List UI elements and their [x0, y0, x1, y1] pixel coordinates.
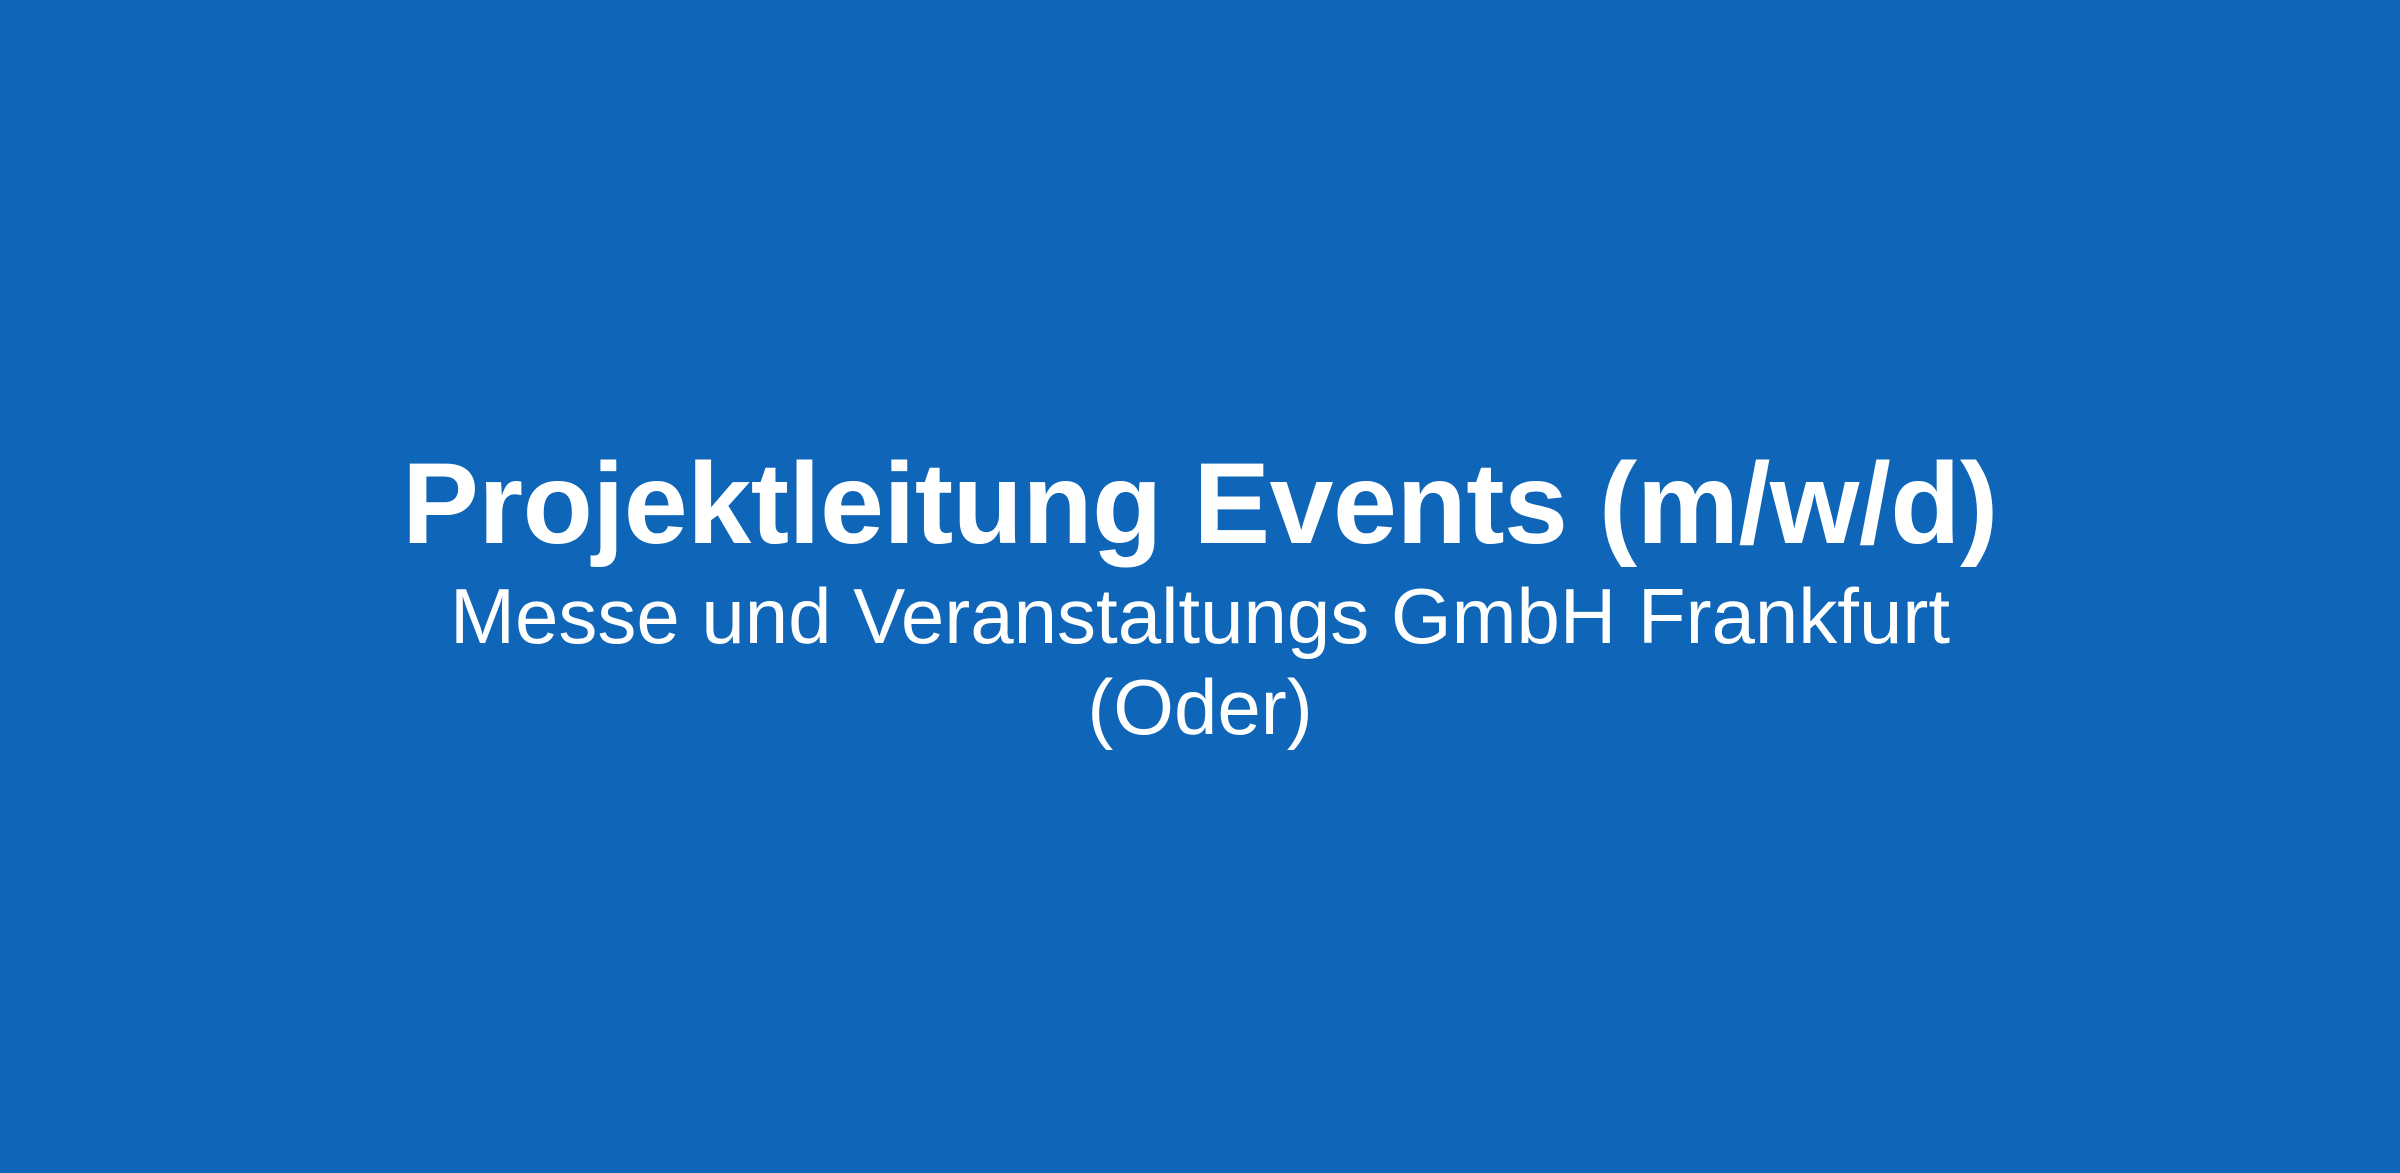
job-posting-share-card: Projektleitung Events (m/w/d) Messe und …: [0, 0, 2400, 1173]
card-text-block: Projektleitung Events (m/w/d) Messe und …: [340, 438, 2060, 754]
job-title: Projektleitung Events (m/w/d): [402, 438, 1998, 571]
employer-name: Messe und Veranstaltungs GmbH Frankfurt …: [340, 571, 2060, 754]
